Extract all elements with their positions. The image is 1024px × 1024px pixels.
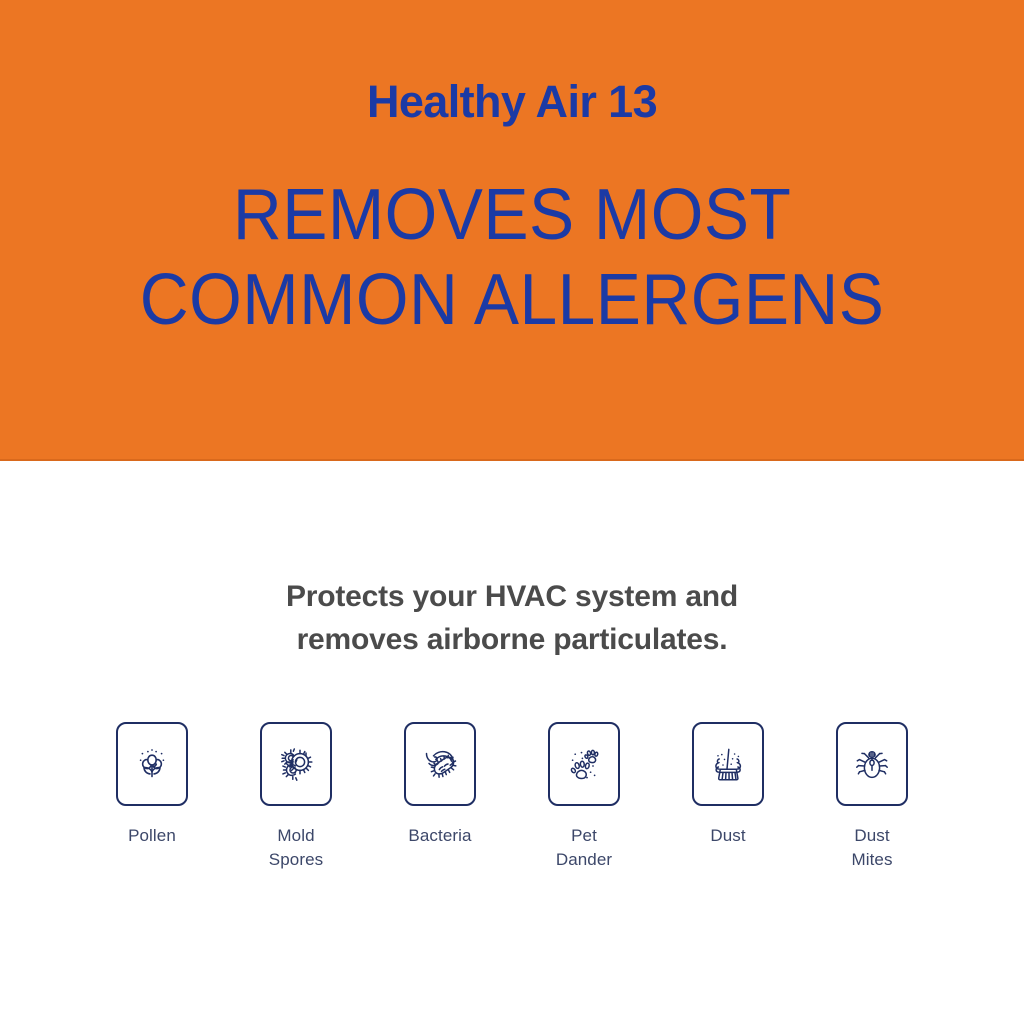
details-section: Protects your HVAC system and removes ai… [0,461,1024,1024]
product-name: Healthy Air 13 [367,78,657,125]
allergen-item-dust: Dust [692,722,764,847]
allergen-label: Pollen [128,824,176,847]
allergen-icon-box [548,722,620,806]
allergen-item-bacteria: Bacteria [404,722,476,847]
allergen-icon-box [836,722,908,806]
allergen-icon-box [116,722,188,806]
allergen-label: Dust Mites [851,824,892,871]
allergen-icon-row: Pollen [72,722,952,871]
allergen-label: Bacteria [408,824,471,847]
paw-prints-icon [561,741,607,787]
allergen-item-dust-mites: Dust Mites [836,722,908,871]
allergen-label: Pet Dander [556,824,612,871]
allergen-label: Dust [710,824,745,847]
bacteria-icon [417,741,463,787]
subheadline: Protects your HVAC system and removes ai… [192,576,832,661]
flower-icon [129,741,175,787]
page-title: REMOVES MOST COMMON ALLERGENS [140,173,885,343]
allergen-icon-box [404,722,476,806]
allergen-icon-box [692,722,764,806]
hero-banner: Healthy Air 13 REMOVES MOST COMMON ALLER… [0,0,1024,461]
allergen-item-pet-dander: Pet Dander [548,722,620,871]
allergen-item-pollen: Pollen [116,722,188,847]
broom-icon [705,741,751,787]
spores-icon [273,741,319,787]
allergen-label: Mold Spores [269,824,323,871]
promo-graphic: Healthy Air 13 REMOVES MOST COMMON ALLER… [0,0,1024,1024]
mite-icon [849,741,895,787]
allergen-item-mold-spores: Mold Spores [260,722,332,871]
allergen-icon-box [260,722,332,806]
